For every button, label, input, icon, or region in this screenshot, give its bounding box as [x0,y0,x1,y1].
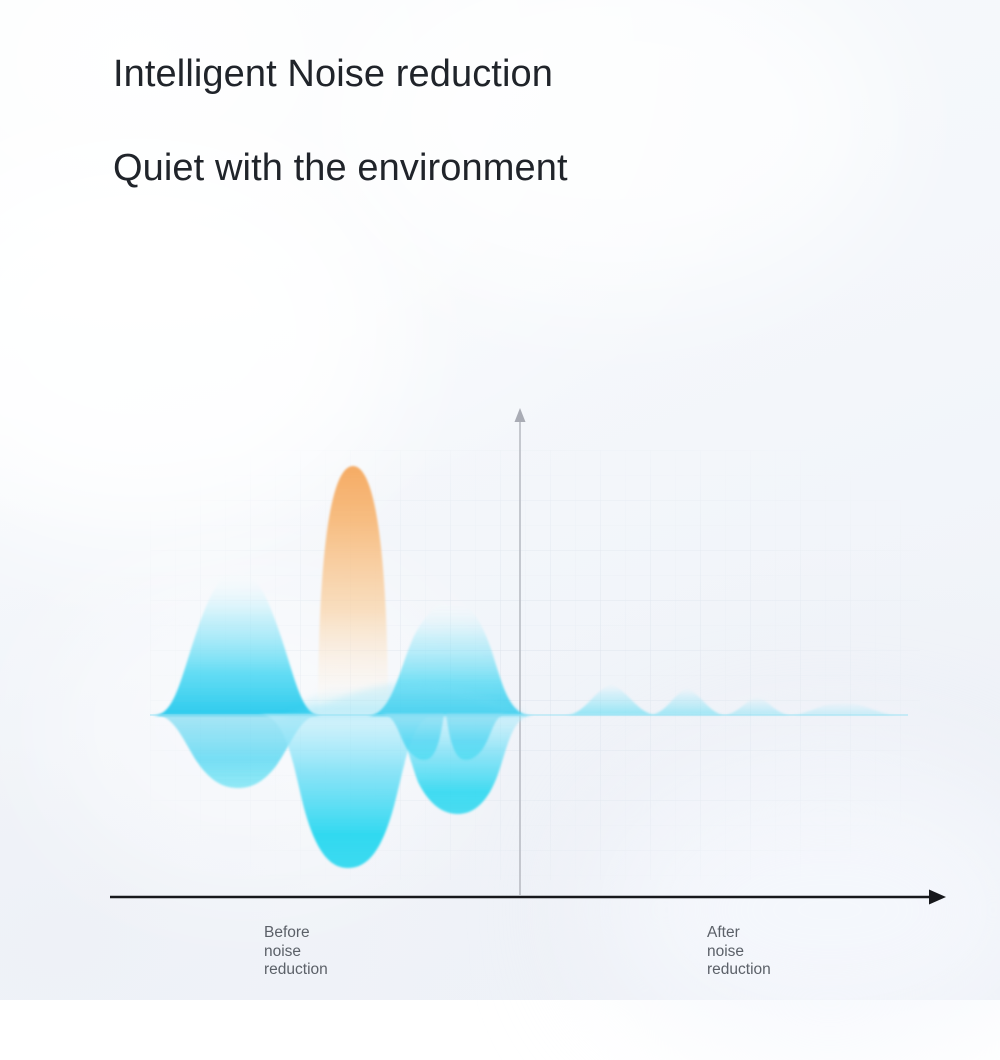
noise-reduction-infographic: Intelligent Noise reduction Quiet with t… [0,0,1000,1000]
waveform-chart [0,0,1000,1000]
caption-after-noise-reduction: After noise reduction [707,924,771,980]
x-axis [110,890,946,905]
caption-before-noise-reduction: Before noise reduction [264,924,328,980]
